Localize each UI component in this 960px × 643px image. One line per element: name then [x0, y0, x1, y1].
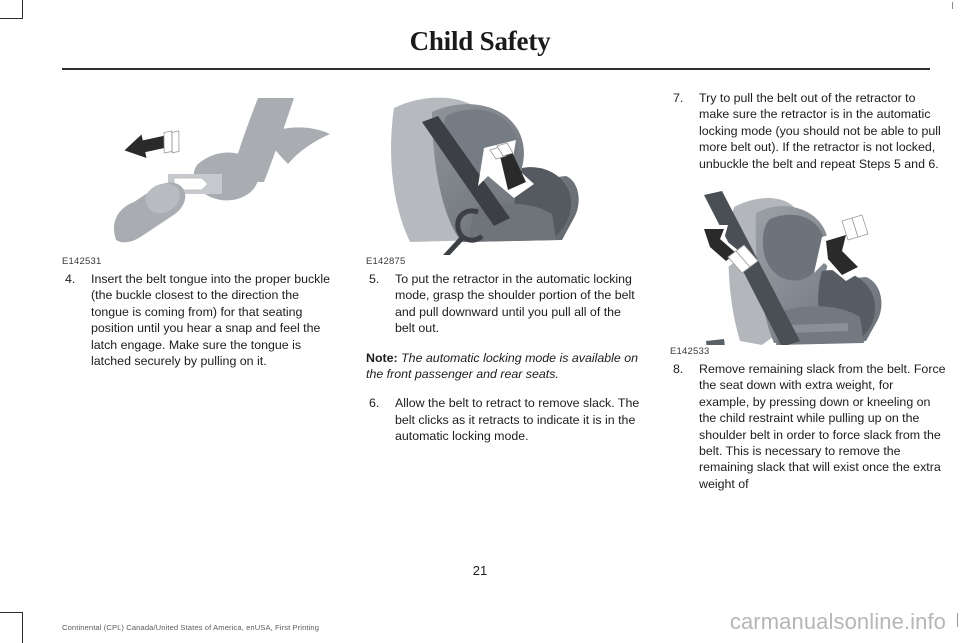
- column-right: 7. Try to pull the belt out of the retra…: [670, 90, 946, 505]
- figure-caption: E142533: [670, 346, 946, 357]
- page-number: 21: [0, 563, 960, 578]
- step-number: 8.: [670, 361, 699, 492]
- figure-child-seat-belt: E142875: [366, 90, 642, 267]
- figure-belt-tongue-buckle: E142531: [62, 90, 338, 267]
- crop-mark-bottom-left: [0, 612, 23, 643]
- step-number: 7.: [670, 90, 699, 172]
- header-rule: [62, 68, 930, 70]
- content-columns: E142531 4. Insert the belt tongue into t…: [62, 90, 930, 505]
- figure-caption: E142531: [62, 256, 338, 267]
- step-item: 6. Allow the belt to retract to remove s…: [366, 395, 642, 444]
- manual-page: Child Safety: [0, 0, 960, 643]
- step-item: 4. Insert the belt tongue into the prope…: [62, 271, 338, 369]
- crop-mark-bottom-right: [957, 613, 959, 627]
- step-text: Remove remaining slack from the belt. Fo…: [699, 361, 946, 492]
- figure-caption: E142875: [366, 256, 642, 267]
- crop-mark-top-right: [952, 2, 954, 9]
- step-number: 4.: [62, 271, 91, 369]
- child-restraint-illustration: [670, 185, 946, 345]
- step-item: 7. Try to pull the belt out of the retra…: [670, 90, 946, 172]
- note-block: Note: The automatic locking mode is avai…: [366, 350, 642, 383]
- step-text: Try to pull the belt out of the retracto…: [699, 90, 946, 172]
- column-middle: E142875 5. To put the retractor in the a…: [366, 90, 642, 505]
- step-item: 5. To put the retractor in the automatic…: [366, 271, 642, 337]
- step-number: 6.: [366, 395, 395, 444]
- page-title: Child Safety: [0, 26, 960, 57]
- belt-buckle-illustration: [62, 90, 338, 255]
- step-number: 5.: [366, 271, 395, 337]
- step-item: 8. Remove remaining slack from the belt.…: [670, 361, 946, 492]
- column-left: E142531 4. Insert the belt tongue into t…: [62, 90, 338, 505]
- footer-note: Continental (CPL) Canada/United States o…: [62, 623, 319, 632]
- step-text: Insert the belt tongue into the proper b…: [91, 271, 338, 369]
- watermark: carmanualsonline.info: [730, 609, 946, 635]
- direction-arrow-icon: [122, 130, 183, 162]
- step-text: Allow the belt to retract to remove slac…: [395, 395, 642, 444]
- note-label: Note:: [366, 351, 398, 365]
- note-text: The automatic locking mode is available …: [366, 351, 638, 381]
- crop-mark-top-left: [0, 0, 23, 19]
- child-seat-retractor-illustration: [366, 90, 642, 255]
- step-text: To put the retractor in the automatic lo…: [395, 271, 642, 337]
- figure-child-restraint-slack: E142533: [670, 185, 946, 357]
